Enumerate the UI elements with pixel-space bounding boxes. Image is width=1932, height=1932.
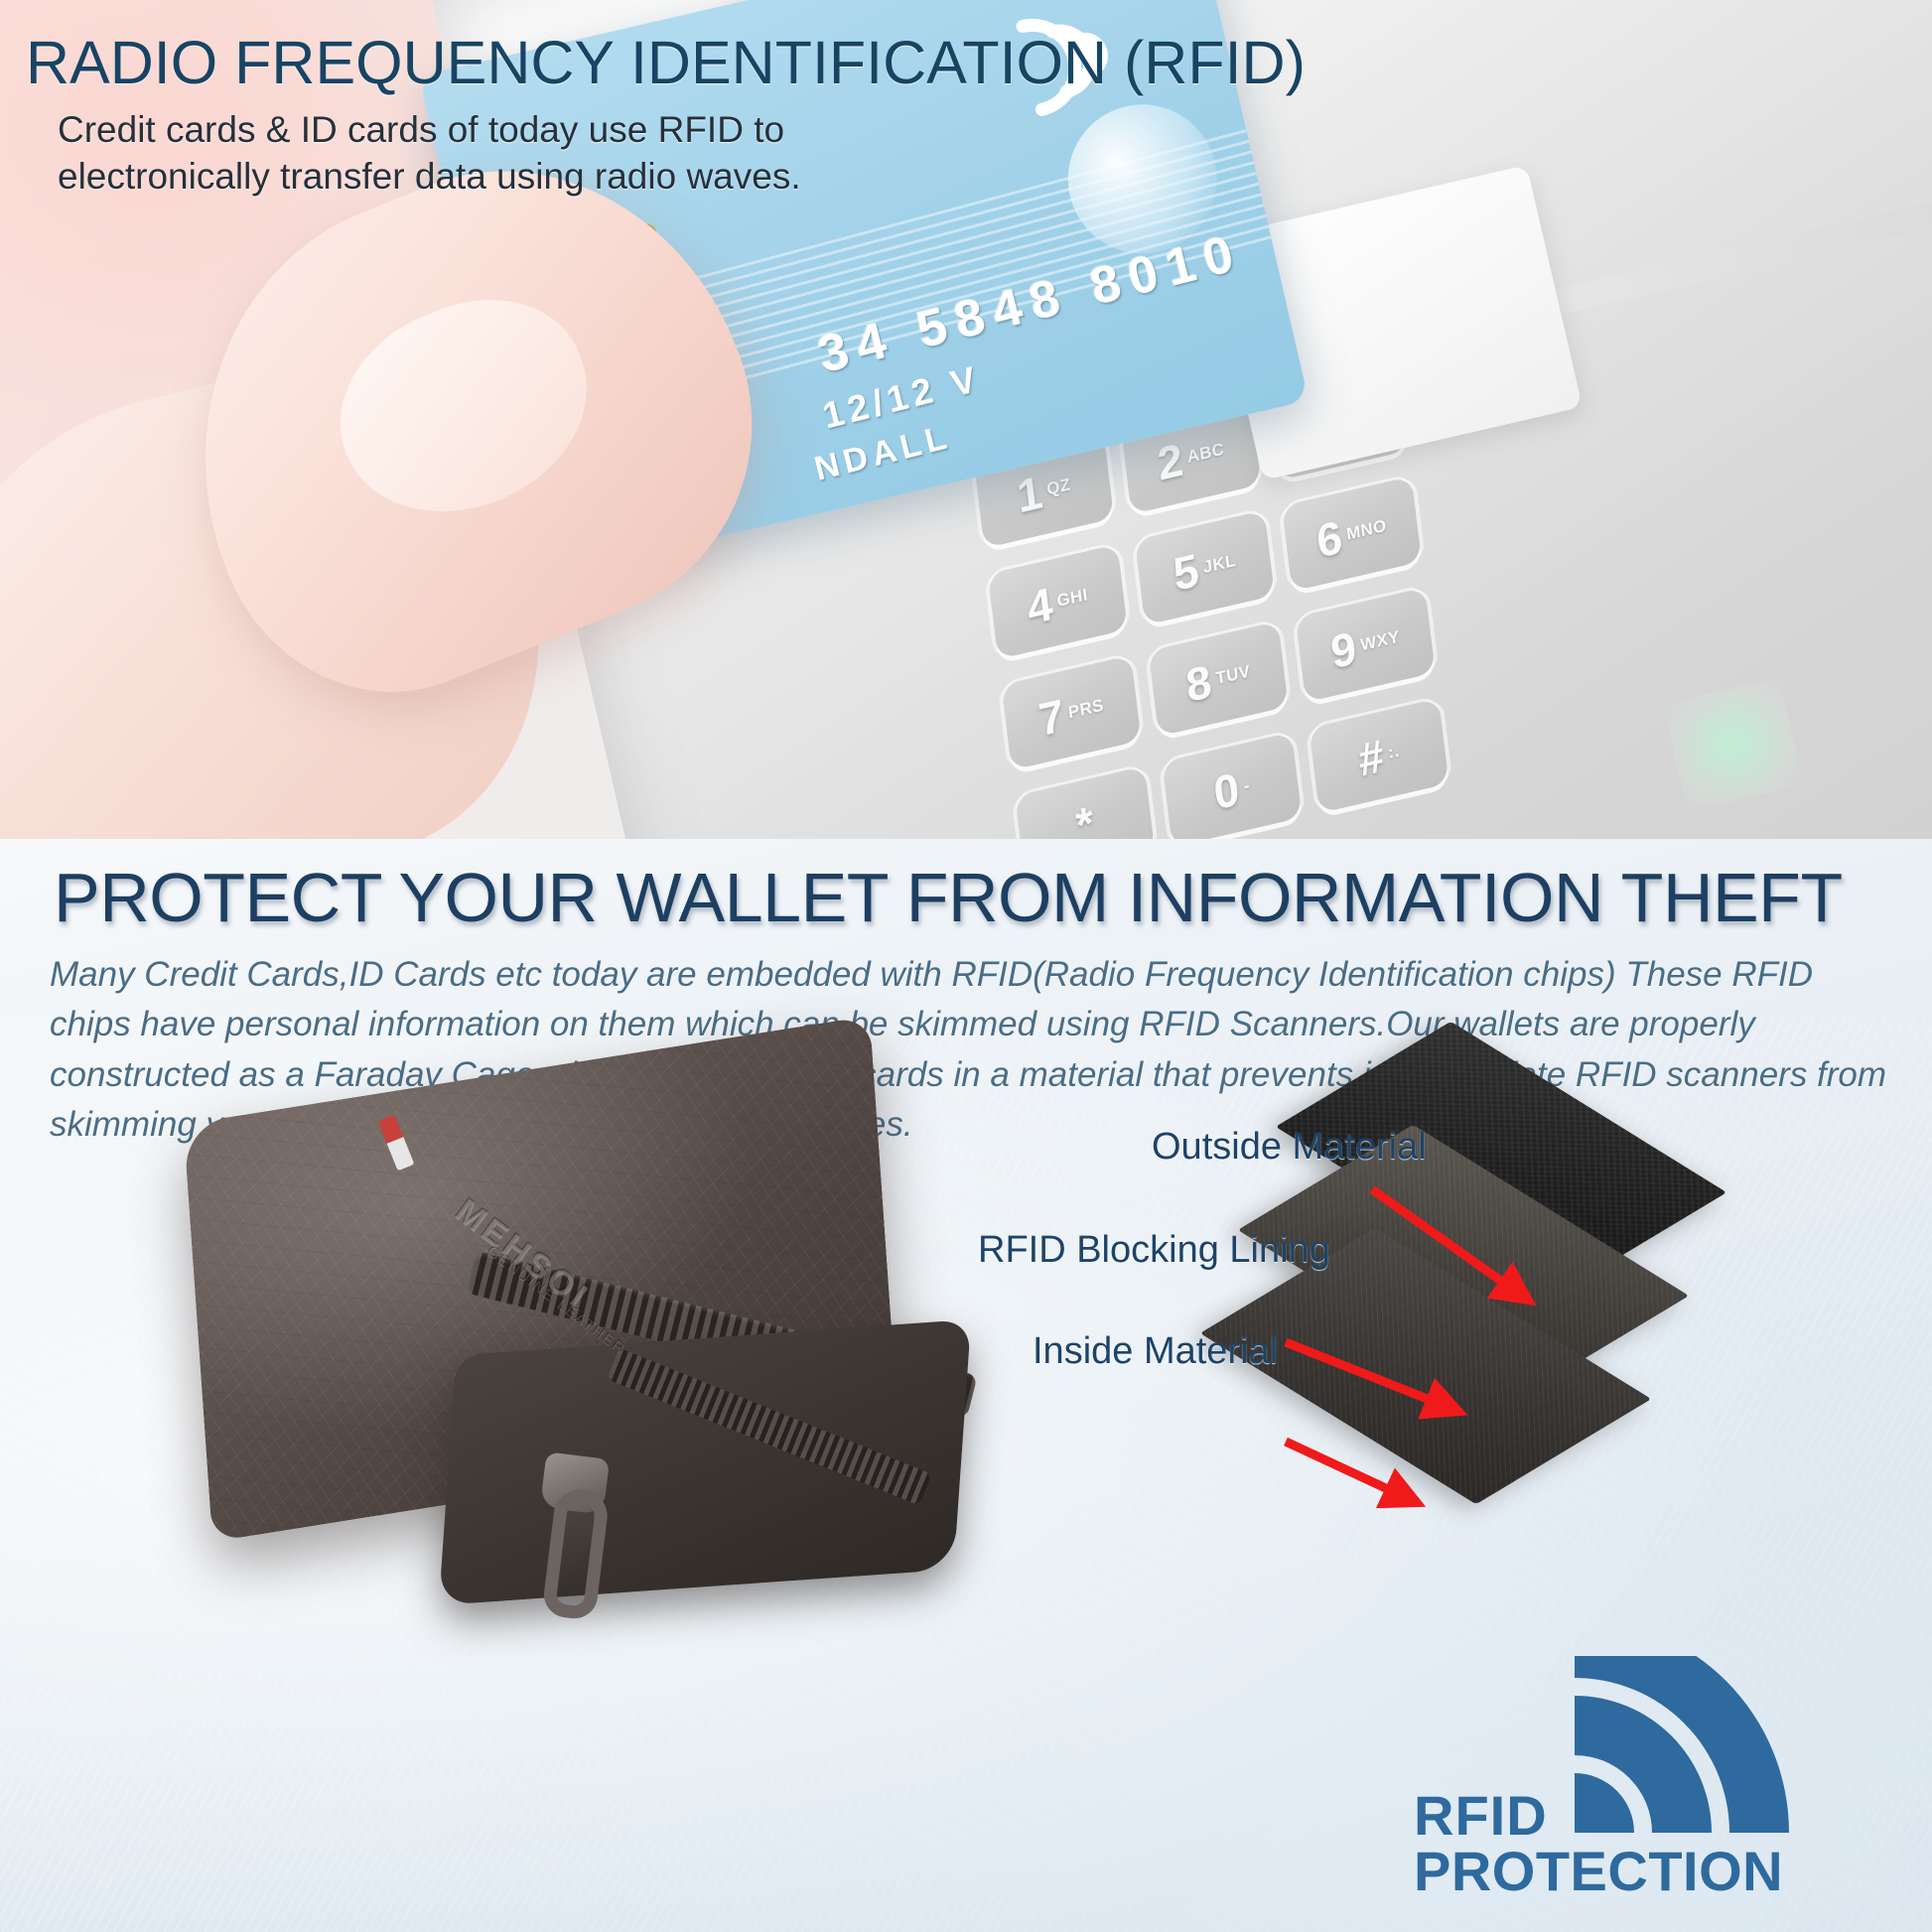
material-layers-diagram (1301, 1060, 1757, 1477)
page-title-protect: PROTECT YOUR WALLET FROM INFORMATION THE… (54, 858, 1843, 937)
keypad-key-5: 5 JKL (1135, 510, 1275, 625)
key-letters: ABC (1186, 441, 1225, 466)
rfid-logo-line-2: PROTECTION (1414, 1839, 1783, 1903)
key-digit: 0 (1211, 765, 1242, 817)
key-digit: 7 (1036, 692, 1067, 744)
key-letters: TUV (1215, 663, 1252, 687)
rfid-subtitle: Credit cards & ID cards of today use RFI… (58, 107, 801, 201)
key-letters: QZ (1046, 477, 1072, 498)
page-title-rfid: RADIO FREQUENCY IDENTIFICATION (RFID) (26, 28, 1306, 97)
rfid-signal-arc-icon (1565, 1656, 1823, 1835)
label-rfid-blocking-lining: RFID Blocking Lining (978, 1229, 1330, 1272)
key-digit: 5 (1171, 546, 1201, 598)
rfid-subtitle-line-2: electronically transfer data using radio… (58, 154, 801, 201)
key-digit: 6 (1314, 513, 1345, 565)
hand-holding-card (40, 129, 794, 685)
keypad-key-7: 7 PRS (1001, 655, 1141, 770)
key-letters: WXY (1360, 628, 1401, 653)
keypad-key-hash: # :. (1309, 698, 1449, 813)
key-digit: 9 (1328, 624, 1359, 676)
infographic-page: 1 QZ 2 ABC 3 DEF 4 GHI 5 JKL 6 MNO (0, 0, 1932, 1932)
key-letters: MNO (1345, 518, 1387, 543)
keypad-key-8: 8 TUV (1149, 621, 1289, 737)
key-digit: 2 (1155, 436, 1185, 487)
keypad-key-6: 6 MNO (1282, 477, 1422, 592)
keypad-key-0: 0 - (1162, 732, 1302, 839)
key-letters: GHI (1056, 587, 1089, 610)
leather-wallet-product: MEHSOI GENUINE LEATHER (174, 1040, 1067, 1735)
rfid-subtitle-line-1: Credit cards & ID cards of today use RFI… (58, 107, 801, 154)
key-digit: 4 (1025, 580, 1055, 631)
key-digit: # (1356, 732, 1387, 783)
label-outside-material: Outside Material (1152, 1126, 1427, 1169)
keypad-key-4: 4 GHI (988, 544, 1128, 659)
keypad-key-star: * (1015, 766, 1155, 839)
rfid-protection-logo: RFID PROTECTION (1408, 1656, 1874, 1904)
keypad-key-9: 9 WXY (1296, 587, 1436, 702)
key-digit: 8 (1183, 657, 1214, 709)
key-digit: 1 (1015, 469, 1045, 520)
key-letters: PRS (1067, 697, 1105, 721)
key-letters: - (1243, 777, 1251, 794)
key-letters: :. (1387, 743, 1400, 761)
key-letters: JKL (1202, 553, 1237, 577)
label-inside-material: Inside Material (1033, 1330, 1278, 1373)
key-digit: * (1073, 799, 1096, 839)
rfid-explainer-panel: 1 QZ 2 ABC 3 DEF 4 GHI 5 JKL 6 MNO (0, 0, 1932, 839)
